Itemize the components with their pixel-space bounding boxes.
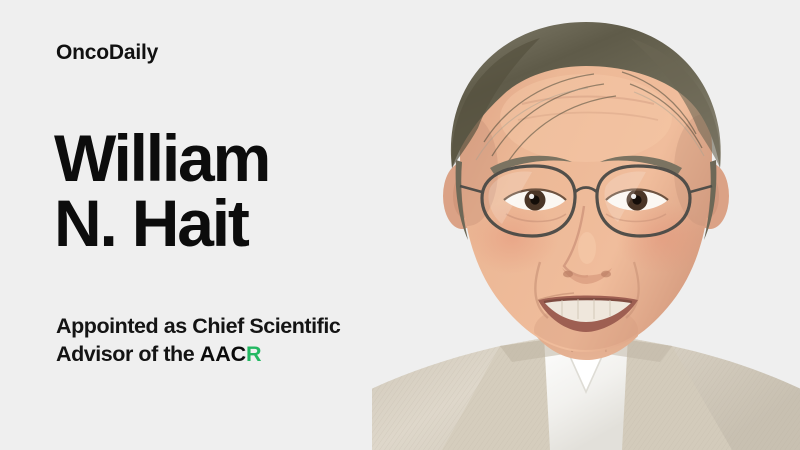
page-title: William N. Hait bbox=[54, 126, 269, 255]
subtitle: Appointed as Chief Scientific Advisor of… bbox=[56, 313, 340, 368]
portrait-illustration bbox=[372, 0, 800, 450]
page-title-line-2: N. Hait bbox=[54, 191, 269, 256]
page-title-line-1: William bbox=[54, 126, 269, 191]
subtitle-line-2-prefix: Advisor of the bbox=[56, 342, 200, 366]
promo-card: OncoDaily William N. Hait Appointed as C… bbox=[0, 0, 800, 450]
org-abbrev-dark: AAC bbox=[200, 342, 246, 366]
brand-logo[interactable]: OncoDaily bbox=[56, 42, 158, 63]
subtitle-line-2: Advisor of the AACR bbox=[56, 341, 340, 369]
subtitle-line-1: Appointed as Chief Scientific bbox=[56, 313, 340, 341]
org-abbrev-accent: R bbox=[246, 342, 261, 366]
portrait-photo bbox=[372, 0, 800, 450]
